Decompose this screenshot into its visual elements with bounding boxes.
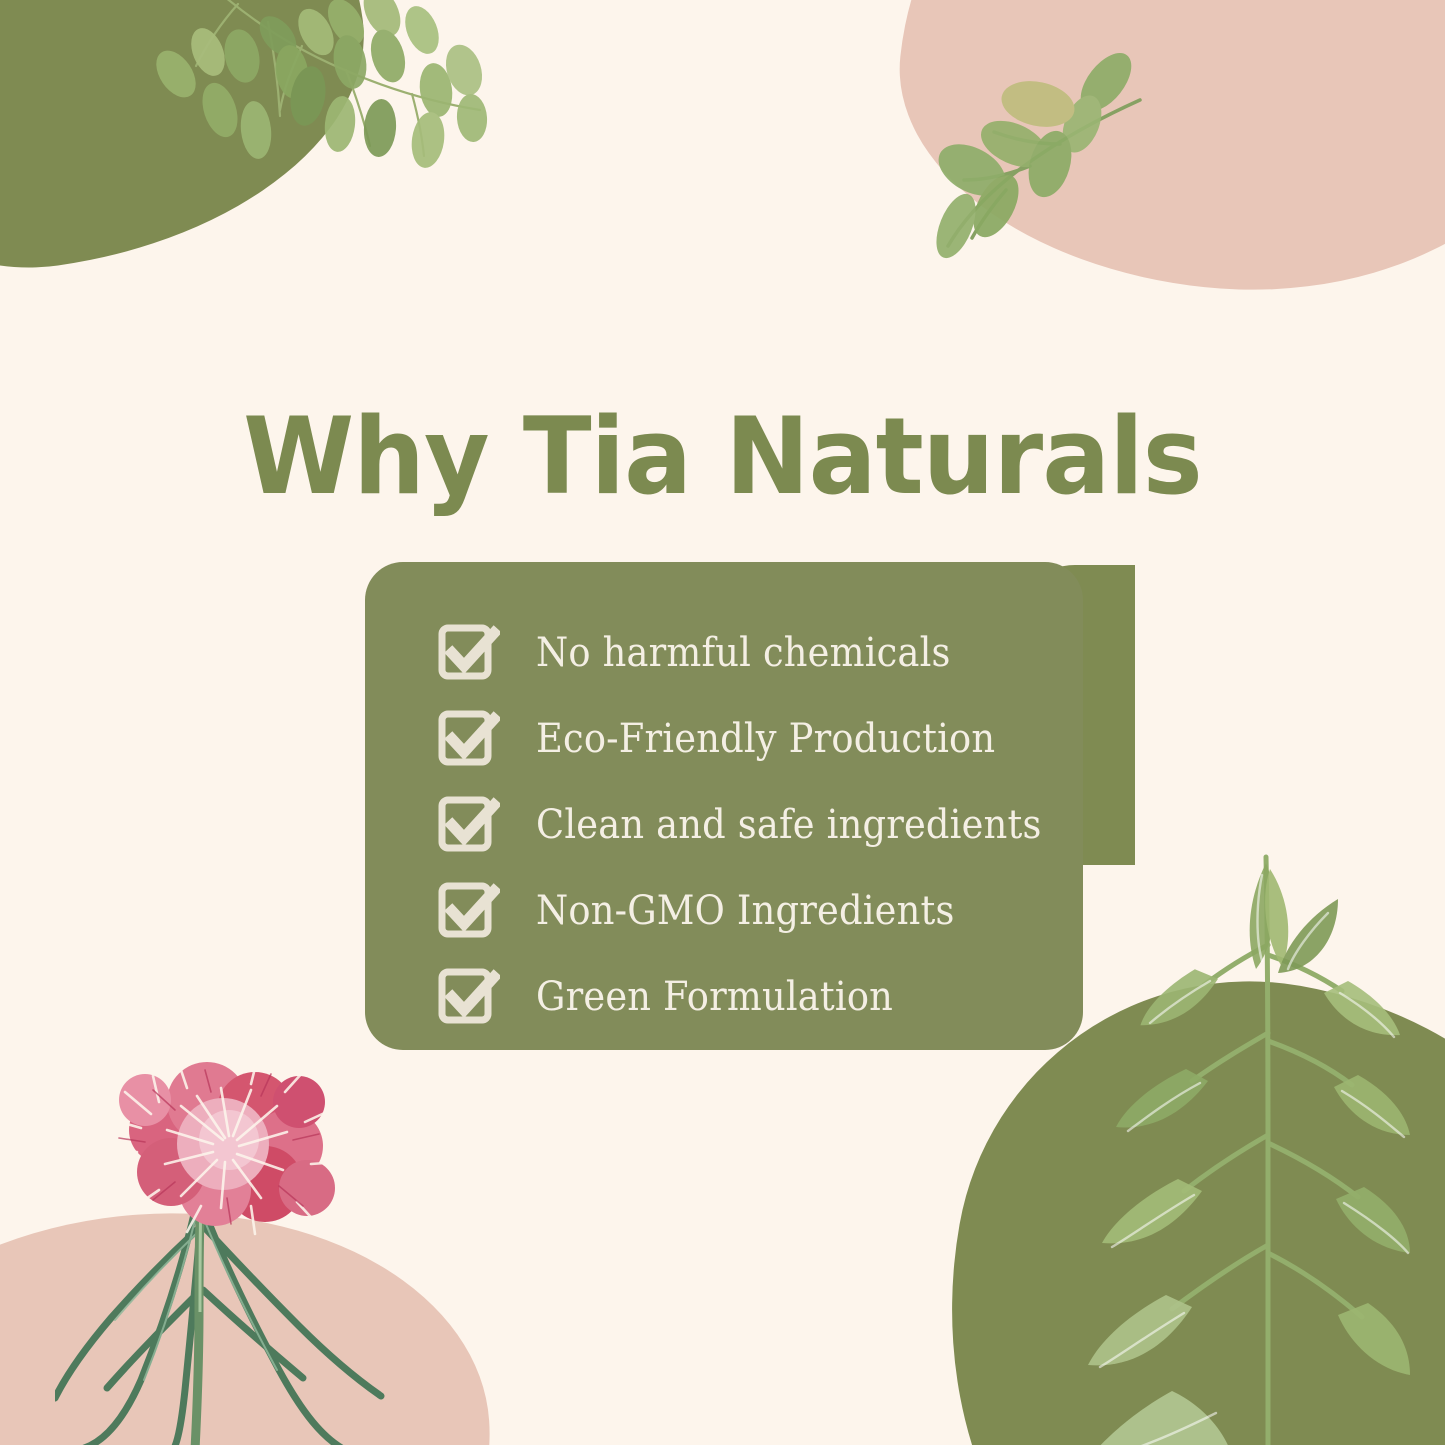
- list-item: Green Formulation: [365, 954, 1083, 1040]
- checkbox-checked-icon: [438, 622, 500, 684]
- leaf-stem-bottomright-icon: [1080, 835, 1410, 1445]
- feature-list: No harmful chemicals Eco-Friendly Produc…: [365, 610, 1083, 1040]
- blob-topright: [880, 0, 1445, 324]
- checkbox-checked-icon: [438, 966, 500, 1028]
- checkbox-checked-icon: [438, 880, 500, 942]
- blob-bottomleft: [0, 1191, 505, 1445]
- carnation-flower-icon: [55, 1040, 445, 1445]
- list-item: Clean and safe ingredients: [365, 782, 1083, 868]
- list-item: Non-GMO Ingredients: [365, 868, 1083, 954]
- feature-card: No harmful chemicals Eco-Friendly Produc…: [365, 562, 1083, 1050]
- poster-canvas: Why Tia Naturals No harmful chemicals Ec…: [0, 0, 1445, 1445]
- list-item-label: Eco-Friendly Production: [536, 716, 995, 762]
- checkbox-checked-icon: [438, 794, 500, 856]
- blob-topleft: [0, 0, 391, 297]
- list-item: No harmful chemicals: [365, 610, 1083, 696]
- leaf-sprig-topright-icon: [910, 40, 1160, 270]
- list-item-label: Clean and safe ingredients: [536, 802, 1042, 848]
- list-item-label: Non-GMO Ingredients: [536, 888, 955, 934]
- list-item: Eco-Friendly Production: [365, 696, 1083, 782]
- list-item-label: No harmful chemicals: [536, 630, 951, 676]
- checkbox-checked-icon: [438, 708, 500, 770]
- page-title: Why Tia Naturals: [36, 399, 1409, 516]
- leaf-branch-topleft-icon: [150, 0, 490, 270]
- list-item-label: Green Formulation: [536, 974, 893, 1020]
